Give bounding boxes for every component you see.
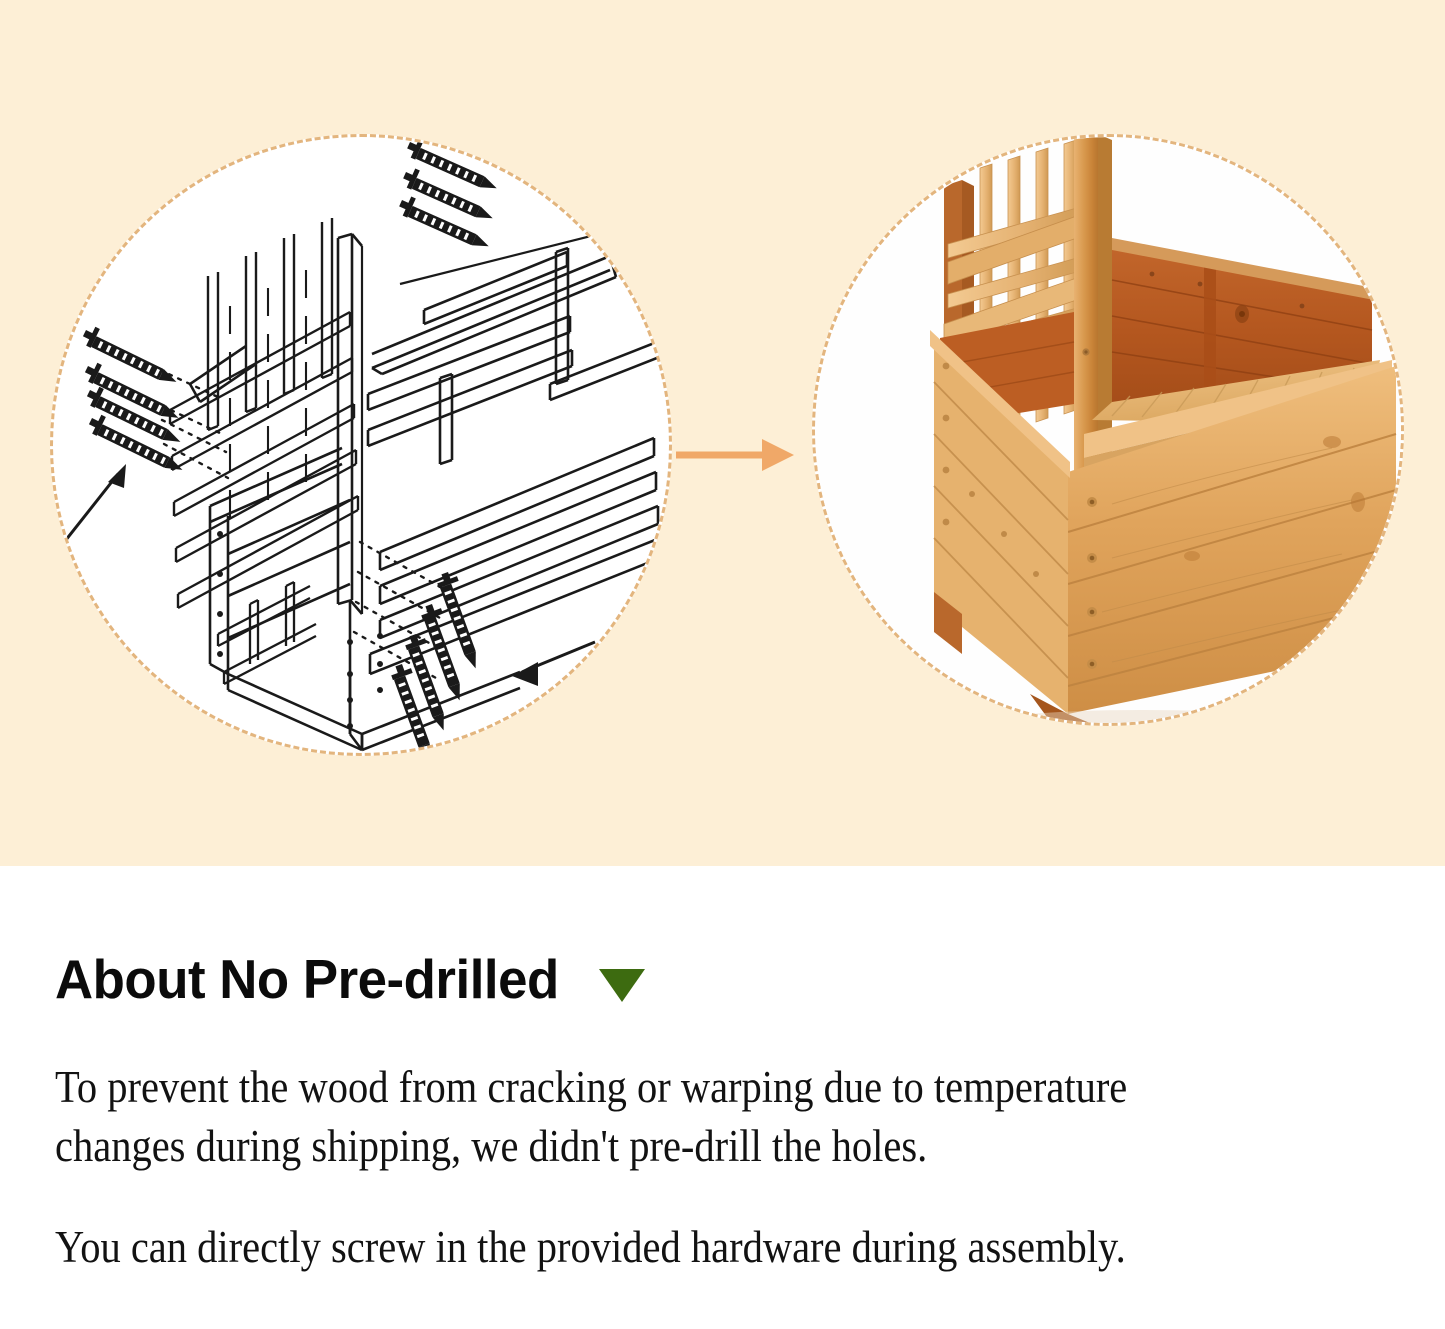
assembly-line-drawing [50, 134, 672, 756]
assembly-diagram-circle [50, 134, 672, 756]
finished-product-photo-circle [812, 134, 1404, 726]
predrill-explanation-paragraph: To prevent the wood from cracking or war… [55, 1058, 1261, 1177]
about-no-predrilled-section: About No Pre-drilled To prevent the wood… [0, 866, 1445, 1329]
chevron-down-icon [596, 965, 648, 1005]
section-heading-row: About No Pre-drilled [55, 952, 648, 1007]
page-title: About No Pre-drilled [55, 952, 559, 1007]
assembly-illustration-panel [0, 0, 1445, 866]
transition-arrow-icon [676, 433, 796, 477]
planter-box-product-photo [812, 134, 1404, 726]
assembly-instruction-paragraph: You can directly screw in the provided h… [55, 1218, 1261, 1277]
